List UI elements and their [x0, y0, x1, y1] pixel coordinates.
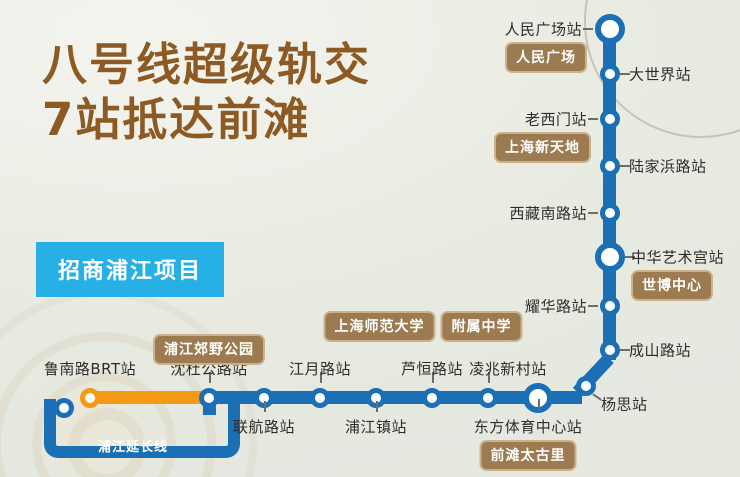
station-dot-yaohua-lu[interactable]: [600, 296, 620, 316]
station-label-luheng-lu: 芦恒路站: [401, 358, 463, 379]
leader-tick: [588, 118, 598, 120]
station-dot-extension-terminus[interactable]: [54, 398, 74, 418]
poi-tag-qiantan-taikooli: 前滩太古里: [480, 440, 577, 471]
poi-tag-line-2: 附属中学: [441, 311, 523, 342]
station-label-jiangyue-lu: 江月路站: [289, 358, 351, 379]
station-label-dongfang-tiyu-zhongxin: 东方体育中心站: [474, 416, 583, 437]
station-dot-zhonghua-yishugong[interactable]: [595, 242, 625, 272]
station-dot-luheng-lu[interactable]: [422, 388, 442, 408]
leader-tick: [376, 401, 378, 412]
station-label-lianhang-lu: 联航路站: [233, 416, 295, 437]
station-dot-dashijie[interactable]: [600, 64, 620, 84]
poi-tag-pujiang-jiaoye-gongyuan: 浦江郊野公园: [153, 334, 265, 365]
headline-line-2: 7站抵达前滩: [42, 93, 371, 148]
poi-tag-shishida-fuzhong: 上海师范大学 附属中学: [323, 311, 522, 345]
station-dot-lujiabang-lu[interactable]: [600, 156, 620, 176]
station-dot-shendu-gonglu[interactable]: [199, 388, 219, 408]
station-label-lunan-lu-brt: 鲁南路BRT站: [44, 358, 136, 379]
station-label-xizang-nanlu: 西藏南路站: [509, 203, 587, 224]
station-dot-renmin-guangchang[interactable]: [595, 14, 625, 44]
station-label-lujiabang-lu: 陆家浜路站: [629, 156, 707, 177]
station-label-yaohua-lu: 耀华路站: [525, 296, 587, 317]
station-label-chengshan-lu: 成山路站: [629, 340, 691, 361]
headline-line-1: 八号线超级轨交: [42, 38, 371, 93]
station-dot-lingzhao-xincun[interactable]: [478, 388, 498, 408]
poi-tag-renmin-guangchang: 人民广场: [505, 42, 587, 73]
leader-tick: [588, 305, 598, 307]
leader-tick: [264, 401, 266, 412]
station-dot-xizang-nanlu[interactable]: [600, 203, 620, 223]
station-label-lingzhao-xincun: 凌兆新村站: [469, 358, 547, 379]
project-badge: 招商浦江项目: [36, 242, 224, 297]
station-label-pujiang-zhen: 浦江镇站: [345, 416, 407, 437]
leader-tick: [583, 28, 593, 30]
poi-tag-shibo-zhongxin: 世博中心: [631, 270, 713, 301]
station-label-renmin-guangchang: 人民广场站: [504, 19, 582, 40]
leader-tick: [588, 212, 598, 214]
metro-line-poster: 八号线超级轨交 7站抵达前滩 招商浦江项目 浦江延长线 人民广场站 人民广场 大…: [0, 0, 740, 477]
poi-tag-xintiandi: 上海新天地: [494, 132, 591, 163]
station-label-dashijie: 大世界站: [629, 64, 691, 85]
leader-tick: [538, 399, 540, 410]
extension-line-label: 浦江延长线: [98, 436, 168, 455]
station-dot-chengshan-lu[interactable]: [600, 340, 620, 360]
station-label-laoximen: 老西门站: [525, 109, 587, 130]
station-dot-lunan-lu-brt[interactable]: [80, 388, 100, 408]
station-label-zhonghua-yishugong: 中华艺术宫站: [631, 247, 724, 268]
headline: 八号线超级轨交 7站抵达前滩: [42, 38, 371, 148]
station-dot-laoximen[interactable]: [600, 109, 620, 129]
station-label-yangsi: 杨思站: [601, 394, 648, 415]
poi-tag-line-1: 上海师范大学: [323, 311, 435, 342]
station-dot-jiangyue-lu[interactable]: [310, 388, 330, 408]
